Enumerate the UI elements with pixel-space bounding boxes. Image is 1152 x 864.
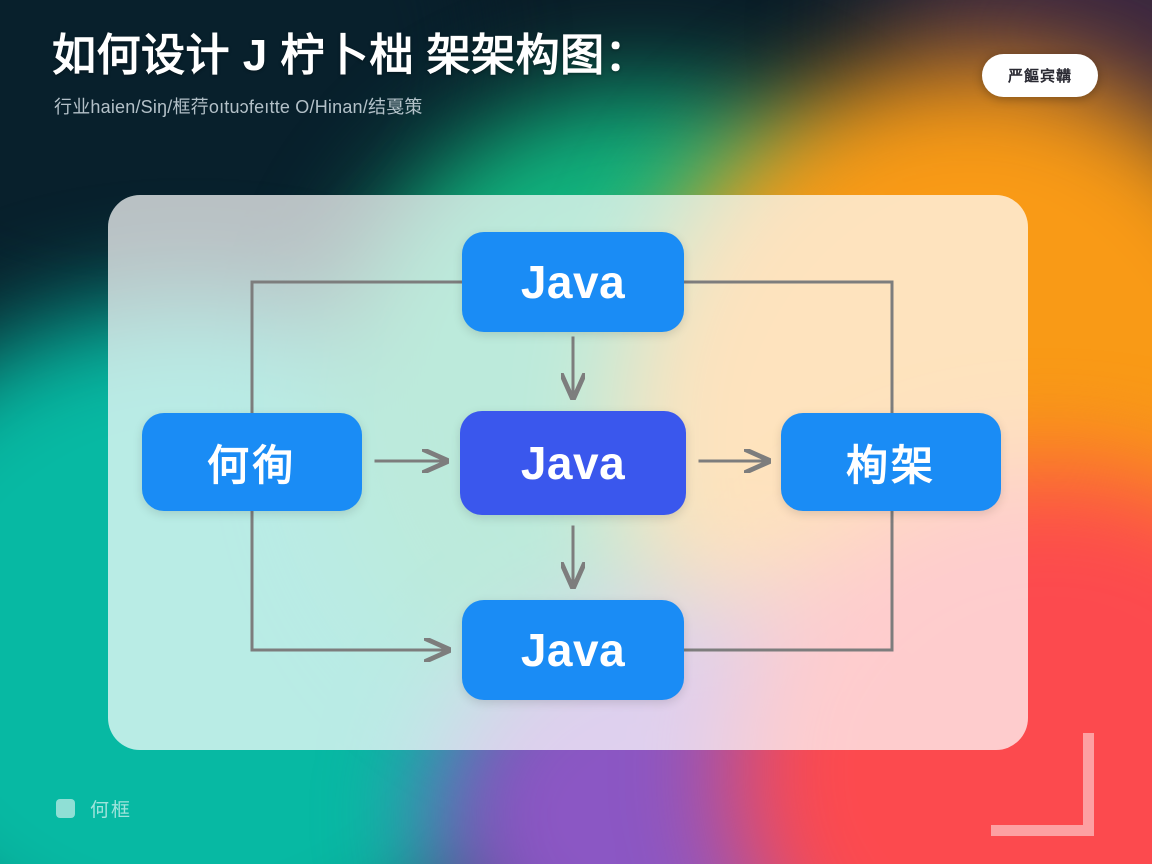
connector-right-to-bottom — [684, 511, 892, 650]
status-badge[interactable]: 严饇宾韝 — [982, 54, 1098, 97]
slide-header: 如何设计 J 柠卜柮 架架构图： 行业haien/Siŋ/框荇oıtuɔfeıt… — [52, 30, 649, 119]
page-title: 如何设计 J 柠卜柮 架架构图： — [52, 30, 649, 81]
page-subtitle: 行业haien/Siŋ/框荇oıtuɔfeıtte O/Hinan/结戛策 — [54, 93, 649, 119]
diagram-node-top-label: Java — [521, 255, 625, 309]
diagram-node-center-label: Java — [521, 436, 625, 490]
diagram-node-left-label: 何徇 — [207, 432, 297, 493]
diagram-node-bottom[interactable]: Java — [462, 600, 684, 700]
slide-footer: 何框 — [56, 795, 132, 822]
diagram-node-left[interactable]: 何徇 — [142, 413, 362, 511]
corner-bracket-decoration — [991, 733, 1094, 836]
connector-top-to-right — [684, 282, 892, 413]
diagram-node-bottom-label: Java — [521, 623, 625, 677]
diagram-node-right-label: 栒架 — [846, 432, 936, 493]
slide-canvas: 如何设计 J 柠卜柮 架架构图： 行业haien/Siŋ/框荇oıtuɔfeıt… — [0, 0, 1152, 864]
architecture-diagram: Java 何徇 Java 栒架 Java — [108, 195, 1028, 750]
diagram-node-center[interactable]: Java — [460, 411, 686, 515]
footer-label: 何框 — [90, 795, 132, 822]
square-icon — [56, 799, 75, 818]
diagram-node-right[interactable]: 栒架 — [781, 413, 1001, 511]
connector-top-to-left — [252, 282, 462, 413]
connector-left-to-bottom — [252, 511, 448, 650]
diagram-node-top[interactable]: Java — [462, 232, 684, 332]
